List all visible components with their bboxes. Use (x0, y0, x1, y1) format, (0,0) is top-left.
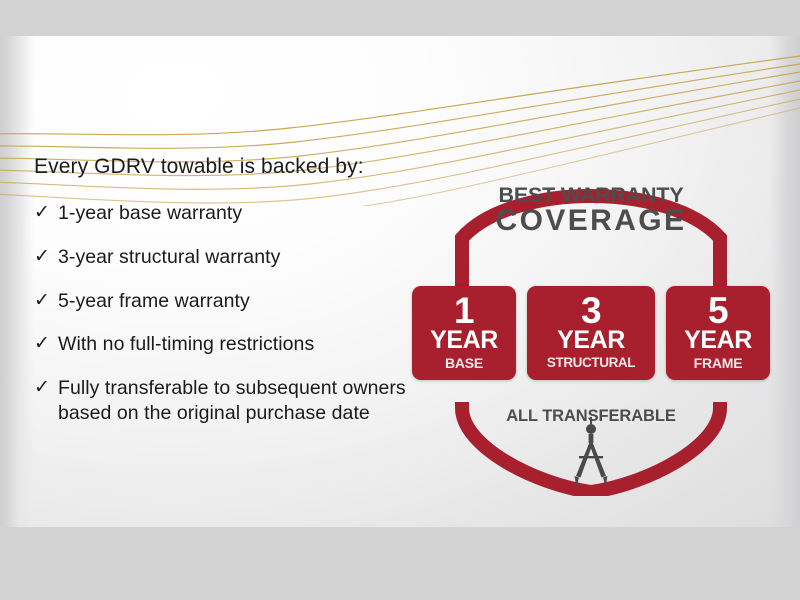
check-icon: ✓ (34, 245, 58, 268)
year-boxes-group: 1 YEAR BASE 3 YEAR STRUCTURAL 5 YEAR FRA… (404, 286, 778, 380)
list-item-label: Fully transferable to subsequent owners … (58, 376, 424, 426)
year-number: 3 (527, 293, 655, 329)
letterbox-bar-top (0, 0, 800, 36)
year-unit: YEAR (666, 328, 770, 353)
year-unit: YEAR (527, 328, 655, 353)
list-item: ✓ 1-year base warranty (34, 201, 434, 226)
year-box-base: 1 YEAR BASE (412, 286, 516, 380)
all-transferable-label: ALL TRANSFERABLE (404, 407, 778, 426)
artwork-panel: Every GDRV towable is backed by: ✓ 1-yea… (0, 36, 800, 527)
check-icon: ✓ (34, 289, 58, 312)
year-box-structural: 3 YEAR STRUCTURAL (527, 286, 655, 380)
warranty-copy-block: Every GDRV towable is backed by: ✓ 1-yea… (34, 154, 434, 426)
page-title: Every GDRV towable is backed by: (34, 154, 434, 179)
warranty-shield-badge: BEST WARRANTY COVERAGE 1 YEAR BASE 3 YEA… (404, 146, 778, 496)
drafting-compass-icon (575, 417, 608, 487)
list-item: ✓ Fully transferable to subsequent owner… (34, 376, 434, 426)
list-item-label: 1-year base warranty (58, 201, 242, 226)
list-item-label: 3-year structural warranty (58, 245, 280, 270)
check-icon: ✓ (34, 376, 58, 399)
year-kind: BASE (412, 356, 516, 371)
list-item: ✓ 5-year frame warranty (34, 289, 434, 314)
warranty-graphic: Every GDRV towable is backed by: ✓ 1-yea… (0, 0, 800, 600)
badge-title-line-2: COVERAGE (404, 204, 778, 238)
check-icon: ✓ (34, 201, 58, 224)
year-box-frame: 5 YEAR FRAME (666, 286, 770, 380)
list-item-label: 5-year frame warranty (58, 289, 250, 314)
list-item-label: With no full-timing restrictions (58, 332, 314, 357)
year-unit: YEAR (412, 328, 516, 353)
list-item: ✓ With no full-timing restrictions (34, 332, 434, 357)
list-item: ✓ 3-year structural warranty (34, 245, 434, 270)
year-kind: FRAME (666, 356, 770, 371)
letterbox-bar-bottom (0, 527, 800, 600)
check-icon: ✓ (34, 332, 58, 355)
year-kind: STRUCTURAL (527, 356, 655, 371)
year-number: 1 (412, 293, 516, 329)
year-number: 5 (666, 293, 770, 329)
